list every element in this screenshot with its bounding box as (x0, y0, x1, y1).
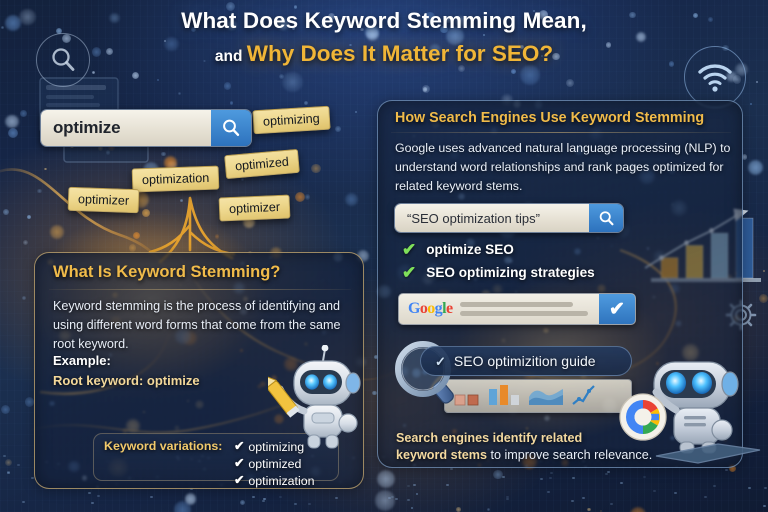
list-item-label: SEO optimizing strategies (426, 265, 594, 280)
line-chart-icon (571, 383, 597, 407)
list-item-label: optimize SEO (426, 242, 514, 257)
check-icon: ✔ (234, 457, 244, 469)
list-item: ✔ optimized (234, 455, 315, 472)
right-panel-body: Google uses advanced natural language pr… (395, 139, 731, 196)
robot-illustration (652, 358, 764, 466)
google-g-icon (618, 392, 668, 442)
analytics-preview-card (444, 379, 632, 413)
footer-strong: keyword stems (396, 448, 487, 462)
header: What Does Keyword Stemming Mean, and Why… (0, 8, 768, 67)
placeholder-line (460, 302, 572, 307)
magnifier-result-chip: ✓ SEO optimizition guide (420, 346, 632, 376)
seo-search-submit-button[interactable] (589, 204, 623, 232)
right-panel-title: How Search Engines Use Keyword Stemming (395, 110, 704, 126)
keyword-tag: optimizer (68, 187, 140, 213)
check-icon: ✔ (234, 440, 244, 452)
root-keyword-label: Root keyword: optimize (53, 373, 200, 388)
bar-chart-icon (487, 383, 521, 407)
check-icon: ✔ (402, 264, 416, 281)
magnifier-result-label: SEO optimizition guide (454, 353, 596, 369)
search-input[interactable]: optimize (40, 109, 252, 147)
google-logo-letter: g (435, 300, 442, 317)
list-item-label: optimized (248, 457, 301, 471)
search-icon (221, 118, 241, 138)
left-panel-title: What Is Keyword Stemming? (53, 263, 280, 282)
check-icon: ✔ (234, 474, 244, 486)
google-logo: Google (399, 300, 452, 318)
infographic-canvas: What Does Keyword Stemming Mean, and Why… (0, 0, 768, 512)
footer-line2: keyword stems to improve search relevanc… (396, 448, 696, 462)
list-item: ✔ optimization (234, 472, 315, 489)
google-logo-letter: G (408, 300, 420, 317)
footer-rest: to improve search relevance. (487, 448, 652, 462)
robot-illustration (268, 345, 372, 453)
search-input-value[interactable]: optimize (41, 110, 211, 146)
page-title-and: and (215, 48, 247, 65)
check-icon: ✔ (402, 241, 416, 258)
page-title-line1: What Does Keyword Stemming Mean, (0, 8, 768, 34)
seo-search-input[interactable]: “SEO optimization tips” (394, 203, 624, 233)
seo-search-input-value[interactable]: “SEO optimization tips” (395, 204, 589, 232)
list-item: ✔ SEO optimizing strategies (402, 264, 595, 281)
example-label: Example: (53, 353, 111, 368)
divider (391, 132, 731, 133)
page-title-highlight: Why Does It Matter for SEO? (247, 41, 553, 66)
google-logo-letter: o (427, 300, 434, 317)
list-item: ✔ optimize SEO (402, 241, 514, 258)
search-submit-button[interactable] (211, 110, 251, 146)
keyword-tag: optimizing (252, 106, 330, 135)
keyword-tag: optimization (132, 165, 220, 192)
keyword-tag: optimizer (219, 194, 291, 221)
search-icon (598, 210, 615, 227)
page-title-line2: and Why Does It Matter for SEO? (0, 41, 768, 67)
google-result-bar[interactable]: Google ✔ (398, 293, 636, 325)
list-item-label: optimization (248, 474, 314, 488)
check-icon: ✓ (435, 355, 446, 368)
placeholder-lines (452, 302, 599, 316)
area-chart-icon (528, 383, 564, 407)
keyword-variations-label: Keyword variations: (104, 439, 222, 453)
placeholder-line (460, 311, 588, 316)
google-approve-button[interactable]: ✔ (599, 294, 635, 324)
divider (49, 289, 351, 290)
